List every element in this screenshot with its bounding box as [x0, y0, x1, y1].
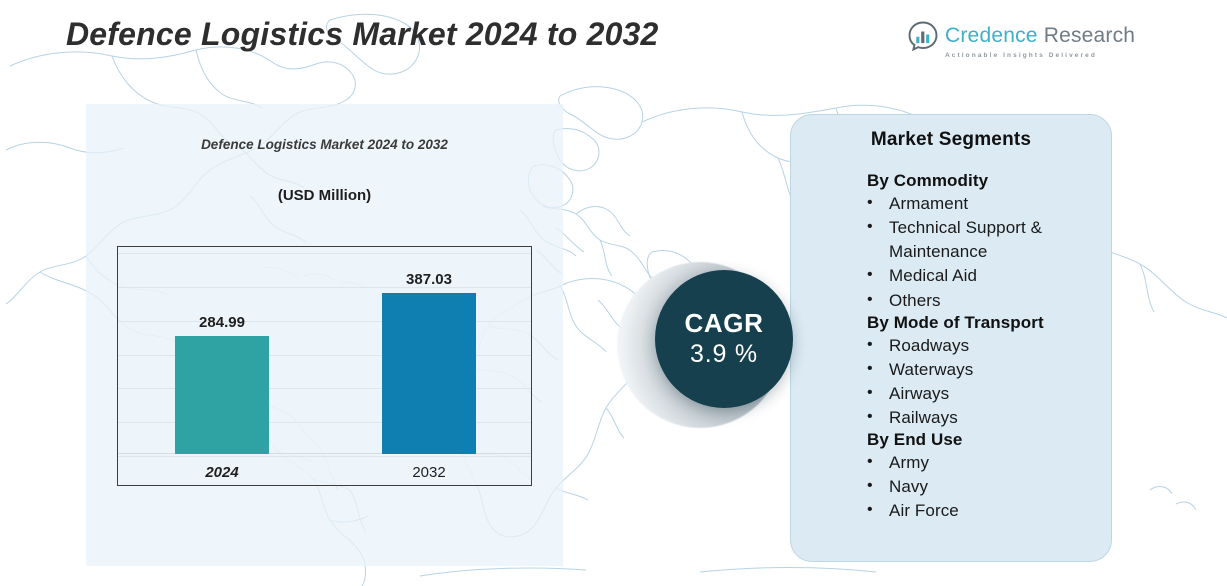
chart-subtitle: Defence Logistics Market 2024 to 2032 [86, 137, 563, 152]
brand-tagline: Actionable Insights Delivered [945, 52, 1108, 59]
bar-chart-bubble-icon [908, 21, 938, 51]
segment-item[interactable]: •Technical Support & Maintenance [867, 216, 1093, 264]
brand-word-2: Research [1044, 24, 1135, 47]
segment-group: By End Use•Army•Navy•Air Force [809, 430, 1093, 523]
cagr-circle: CAGR 3.9 % [655, 270, 793, 408]
bullet-icon: • [867, 264, 889, 287]
cagr-badge: CAGR 3.9 % [617, 260, 793, 436]
bullet-icon: • [867, 289, 889, 312]
chart-panel: Defence Logistics Market 2024 to 2032 (U… [86, 104, 563, 566]
segment-item-label: Navy [889, 475, 1093, 499]
segment-item[interactable]: •Roadways [867, 334, 1093, 358]
bars-layer: 284.992024387.032032 [118, 247, 531, 485]
segment-item[interactable]: •Others [867, 289, 1093, 313]
segment-item-label: Armament [889, 192, 1093, 216]
segment-item[interactable]: •Air Force [867, 499, 1093, 523]
bar-chart-plot-area: 284.992024387.032032 [117, 246, 532, 486]
segment-item[interactable]: •Railways [867, 406, 1093, 430]
segment-item[interactable]: •Airways [867, 382, 1093, 406]
bullet-icon: • [867, 406, 889, 429]
brand-wordmark: Credence Research [945, 24, 1135, 48]
segment-item-label: Roadways [889, 334, 1093, 358]
bar-value-2024: 284.99 [149, 314, 295, 331]
cagr-value: 3.9 % [690, 341, 758, 369]
cagr-label: CAGR [685, 309, 764, 338]
bar-value-2032: 387.03 [356, 271, 502, 288]
segment-item-label: Airways [889, 382, 1093, 406]
brand-logo[interactable]: Credence Research Actionable Insights De… [908, 18, 1108, 62]
segment-item[interactable]: •Navy [867, 475, 1093, 499]
segment-item[interactable]: •Armament [867, 192, 1093, 216]
segment-group: By Mode of Transport•Roadways•Waterways•… [809, 313, 1093, 431]
bullet-icon: • [867, 499, 889, 522]
brand-row: Credence Research [908, 21, 1108, 51]
brand-word-1: Credence [945, 24, 1038, 47]
bullet-icon: • [867, 475, 889, 498]
market-segments-title: Market Segments [809, 129, 1093, 151]
bullet-icon: • [867, 192, 889, 215]
bullet-icon: • [867, 451, 889, 474]
category-label-2024: 2024 [149, 464, 295, 481]
chart-units-label: (USD Million) [86, 187, 563, 204]
market-segments-panel: Market Segments By Commodity•Armament•Te… [790, 114, 1112, 562]
segment-item-label: Army [889, 451, 1093, 475]
segment-item-label: Railways [889, 406, 1093, 430]
segment-item[interactable]: •Army [867, 451, 1093, 475]
segment-item-label: Medical Aid [889, 264, 1093, 288]
segment-item[interactable]: •Medical Aid [867, 264, 1093, 288]
segment-group: By Commodity•Armament•Technical Support … [809, 171, 1093, 313]
segment-item-label: Technical Support & Maintenance [889, 216, 1093, 264]
segment-heading: By Commodity [867, 171, 1093, 191]
market-segments-groups: By Commodity•Armament•Technical Support … [809, 171, 1093, 524]
infographic-root: Defence Logistics Market 2024 to 2032 Cr… [0, 0, 1227, 586]
bullet-icon: • [867, 216, 889, 239]
segment-item-label: Others [889, 289, 1093, 313]
bullet-icon: • [867, 334, 889, 357]
segment-item-label: Waterways [889, 358, 1093, 382]
page-title: Defence Logistics Market 2024 to 2032 [66, 16, 659, 53]
segment-heading: By Mode of Transport [867, 313, 1093, 333]
category-label-2032: 2032 [356, 464, 502, 481]
bar-2032[interactable] [382, 293, 476, 454]
bar-2024[interactable] [175, 336, 269, 454]
segment-item[interactable]: •Waterways [867, 358, 1093, 382]
segment-item-label: Air Force [889, 499, 1093, 523]
bullet-icon: • [867, 358, 889, 381]
segment-heading: By End Use [867, 430, 1093, 450]
bullet-icon: • [867, 382, 889, 405]
